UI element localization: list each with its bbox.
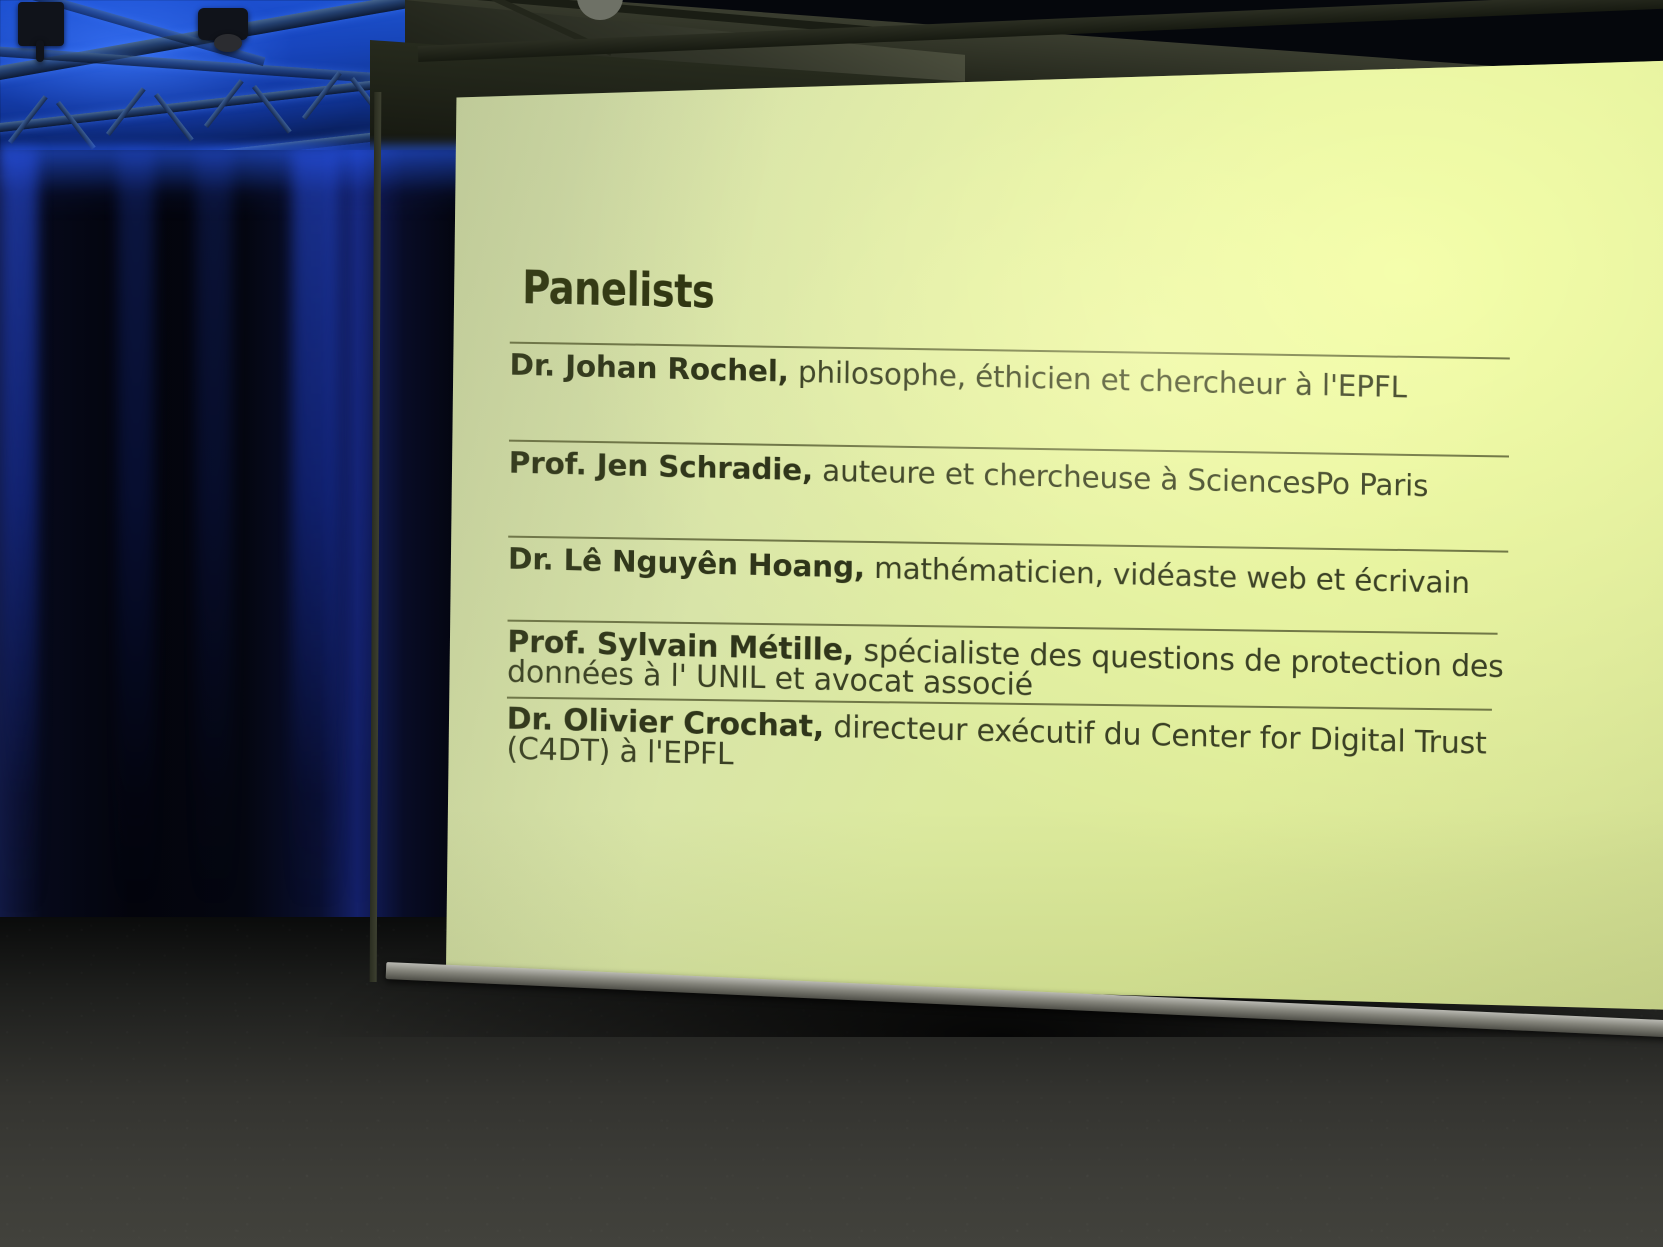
projection-screen-assembly: Panelists Dr. Johan Rochel, philosophe, … bbox=[0, 0, 1663, 1247]
screen-top-frame bbox=[418, 0, 1663, 62]
slide-title: Panelists bbox=[522, 260, 1451, 338]
panelist-row: Prof. Jen Schradie, auteure et chercheus… bbox=[509, 439, 1519, 505]
panelist-name: Dr. Lê Nguyên Hoang, bbox=[508, 541, 865, 584]
panelist-entry: Dr. Olivier Crochat, directeur exécutif … bbox=[506, 704, 1516, 791]
panelist-description: philosophe, éthicien et chercheur à l'EP… bbox=[789, 355, 1407, 405]
panelist-entry: Dr. Lê Nguyên Hoang, mathématicien, vidé… bbox=[508, 543, 1518, 601]
panelist-description: auteure et chercheuse à SciencesPo Paris bbox=[813, 453, 1429, 503]
panelist-row: Dr. Johan Rochel, philosophe, éthicien e… bbox=[509, 342, 1519, 408]
panelist-entry: Prof. Jen Schradie, auteure et chercheus… bbox=[509, 447, 1519, 505]
panelist-name: Prof. Jen Schradie, bbox=[509, 445, 814, 487]
panelist-row: Dr. Lê Nguyên Hoang, mathématicien, vidé… bbox=[508, 535, 1518, 601]
panelist-name: Dr. Johan Rochel, bbox=[509, 348, 788, 389]
panelist-row: Dr. Olivier Crochat, directeur exécutif … bbox=[506, 696, 1517, 791]
panelist-description: mathématicien, vidéaste web et écrivain bbox=[865, 550, 1470, 599]
slide-content: Panelists Dr. Johan Rochel, philosophe, … bbox=[372, 60, 1663, 1020]
screen-left-edge bbox=[370, 92, 382, 982]
panelist-entry: Dr. Johan Rochel, philosophe, éthicien e… bbox=[509, 350, 1519, 408]
conference-room-photo: Panelists Dr. Johan Rochel, philosophe, … bbox=[0, 0, 1663, 1247]
